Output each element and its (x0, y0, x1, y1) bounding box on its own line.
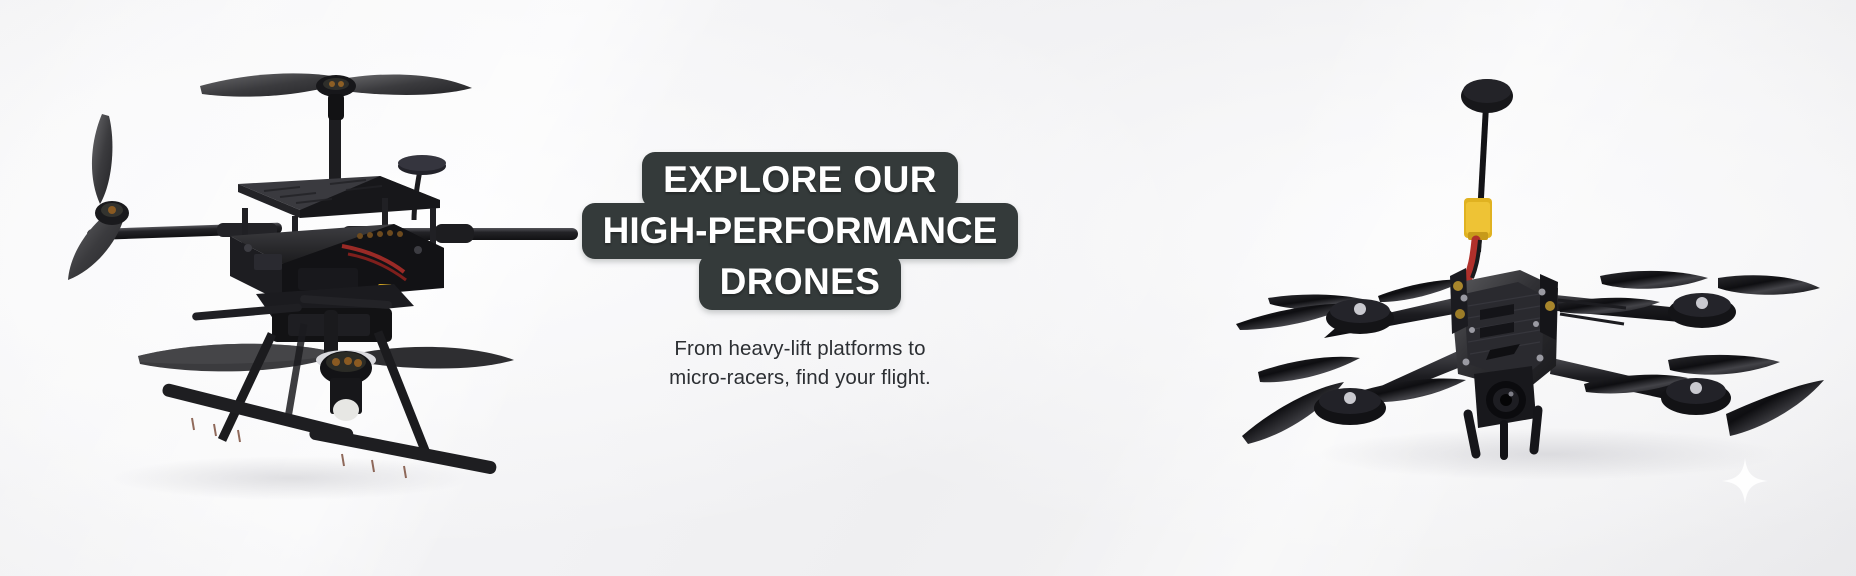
right-drone-image (1228, 62, 1828, 492)
right-drone-prop-front-right (1550, 355, 1824, 436)
left-drone-prop-bottom (138, 310, 514, 421)
banner-copy: EXPLORE OUR HIGH-PERFORMANCE DRONES From… (583, 152, 1017, 392)
sparkle-star-icon (1722, 458, 1768, 504)
right-drone-prop-front-left (1242, 350, 1466, 444)
right-drone-body (1450, 268, 1558, 456)
headline-line-3: DRONES (699, 254, 902, 310)
subtitle-line-2: micro-racers, find your flight. (583, 363, 1017, 392)
headline: EXPLORE OUR HIGH-PERFORMANCE DRONES (583, 152, 1017, 310)
right-drone-prop-rear-left (1236, 280, 1466, 338)
hero-banner: EXPLORE OUR HIGH-PERFORMANCE DRONES From… (0, 0, 1856, 576)
headline-line-2: HIGH-PERFORMANCE (582, 203, 1019, 259)
headline-line-1: EXPLORE OUR (642, 152, 958, 208)
subtitle-line-1: From heavy-lift platforms to (583, 334, 1017, 363)
subtitle: From heavy-lift platforms to micro-racer… (583, 334, 1017, 392)
left-drone-image (42, 58, 582, 508)
right-drone-antenna (1461, 79, 1513, 278)
